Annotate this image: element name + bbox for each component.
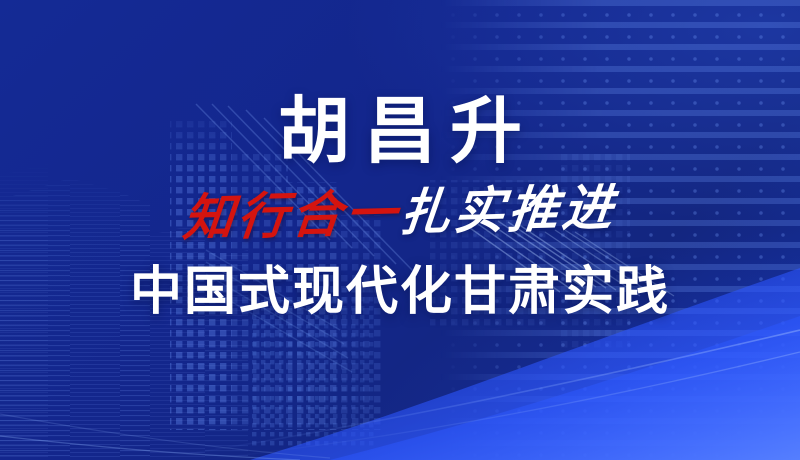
slogan-line: 知行合一扎实推进 [181,183,619,244]
slogan-white-text: 扎实推进 [397,178,619,242]
banner-subtitle: 中国式现代化甘肃实践 [130,266,670,318]
page-title: 胡昌升 [264,96,536,168]
slogan-red-text: 知行合一 [181,183,403,247]
banner-graphic: 胡昌升 知行合一扎实推进 中国式现代化甘肃实践 [0,0,800,460]
banner-content: 胡昌升 知行合一扎实推进 中国式现代化甘肃实践 [0,0,800,460]
